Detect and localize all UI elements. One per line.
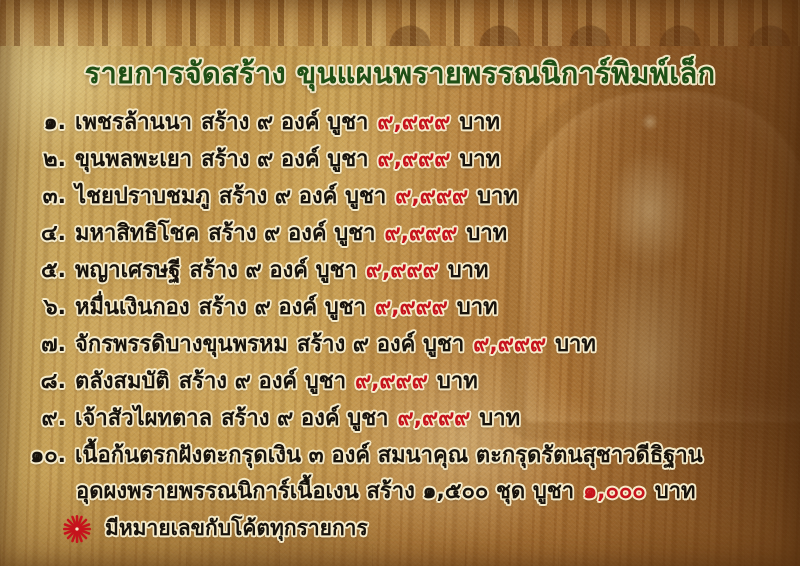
list-item: ๕. พญาเศรษฐี สร้าง ๙ องค์ บูชา ๙,๙๙๙ บาท	[24, 252, 776, 289]
list-item-number: ๕.	[24, 252, 66, 287]
list-item-price: ๙,๙๙๙	[385, 215, 458, 250]
list-item-name: ขุนพลพะเยา	[75, 141, 192, 176]
list-item-price: ๑,๐๐๐	[583, 473, 646, 508]
list-item-price: ๙,๙๙๙	[397, 400, 470, 435]
list-item-number: ๘.	[24, 363, 66, 398]
list-item-number: ๓.	[24, 178, 66, 213]
list-item-detail: สร้าง ๙ องค์ บูชา	[297, 326, 464, 361]
list-item-detail: เนื้อก้นตรกฝังตะกรุดเงิน ๓ องค์ สมนาคุณ …	[75, 437, 703, 472]
list-item-detail: สร้าง ๙ องค์ บูชา	[179, 363, 346, 398]
list-item-number: ๑.	[24, 104, 66, 139]
list-item-number: ๔.	[24, 215, 66, 250]
list-item: ๙. เจ้าสัวไผทตาล สร้าง ๙ องค์ บูชา ๙,๙๙๙…	[24, 400, 776, 437]
list-item-unit: บาท	[459, 104, 500, 139]
list-item-unit: บาท	[459, 141, 500, 176]
list-item-name: ตลังสมบัติ	[75, 363, 170, 398]
list-item-price: ๙,๙๙๙	[378, 141, 451, 176]
list-item: ๔. มหาสิทธิโชค สร้าง ๙ องค์ บูชา ๙,๙๙๙ บ…	[24, 215, 776, 252]
list-item-detail: สร้าง ๙ องค์ บูชา	[201, 104, 368, 139]
list-item-name: ไชยปราบชมภู	[75, 178, 210, 213]
list-item-detail: สร้าง ๙ องค์ บูชา	[208, 215, 375, 250]
list-item-price: ๙,๙๙๙	[375, 289, 448, 324]
poster-content: รายการจัดสร้าง ขุนแผนพรายพรรณนิการ์พิมพ์…	[0, 0, 800, 566]
list-item: ๗. จักรพรรดิบางขุนพรหม สร้าง ๙ องค์ บูชา…	[24, 326, 776, 363]
footnote-text: มีหมายเลขกับโค้ตทุกรายการ	[105, 512, 368, 545]
list-item-unit: บาท	[466, 215, 507, 250]
poster-canvas: รายการจัดสร้าง ขุนแผนพรายพรรณนิการ์พิมพ์…	[0, 0, 800, 566]
list-item-detail: สร้าง ๙ องค์ บูชา	[199, 289, 366, 324]
list-item-unit: บาท	[477, 178, 518, 213]
list-item-detail: สร้าง ๙ องค์ บูชา	[219, 178, 386, 213]
list-item-unit: บาท	[655, 473, 696, 508]
list-item-unit: บาท	[457, 289, 498, 324]
list-item: ๒. ขุนพลพะเยา สร้าง ๙ องค์ บูชา ๙,๙๙๙ บา…	[24, 141, 776, 178]
starburst-icon	[62, 514, 92, 544]
list-item-detail: สร้าง ๙ องค์ บูชา	[190, 252, 357, 287]
list-item-name: มหาสิทธิโชค	[75, 215, 199, 250]
list-item-unit: บาท	[437, 363, 478, 398]
list-item-ten-line-one: ๑๐. เนื้อก้นตรกฝังตะกรุดเงิน ๓ องค์ สมนา…	[24, 437, 776, 473]
list-item-price: ๙,๙๙๙	[366, 252, 439, 287]
list-item-price: ๙,๙๙๙	[395, 178, 468, 213]
list-item-name: จักรพรรดิบางขุนพรหม	[75, 326, 288, 361]
list-item-price: ๙,๙๙๙	[377, 104, 450, 139]
list-item-unit: บาท	[479, 400, 520, 435]
list-item-price: ๙,๙๙๙	[473, 326, 546, 361]
list-item-detail: สร้าง ๙ องค์ บูชา	[201, 141, 368, 176]
list-item-name: เจ้าสัวไผทตาล	[75, 400, 212, 435]
list-item: ๘. ตลังสมบัติ สร้าง ๙ องค์ บูชา ๙,๙๙๙ บา…	[24, 363, 776, 400]
list-item-name: เพชรล้านนา	[75, 104, 192, 139]
page-title: รายการจัดสร้าง ขุนแผนพรายพรรณนิการ์พิมพ์…	[0, 50, 800, 96]
list-item-number: ๗.	[24, 326, 66, 361]
list-item-price: ๙,๙๙๙	[355, 363, 428, 398]
list-item-ten-line-two: อุดผงพรายพรรณนิการ์เนื้อเงน สร้าง ๑,๕๐๐ …	[24, 473, 776, 509]
list-item-detail: อุดผงพรายพรรณนิการ์เนื้อเงน สร้าง ๑,๕๐๐ …	[76, 473, 574, 508]
list-item-name: หมื่นเงินกอง	[75, 289, 190, 324]
list-item-number: ๒.	[24, 141, 66, 176]
amulet-list: ๑. เพชรล้านนา สร้าง ๙ องค์ บูชา ๙,๙๙๙ บา…	[24, 104, 776, 509]
list-item-number: ๖.	[24, 289, 66, 324]
list-item: ๑. เพชรล้านนา สร้าง ๙ องค์ บูชา ๙,๙๙๙ บา…	[24, 104, 776, 141]
list-item-number: ๑๐.	[24, 437, 66, 472]
list-item: ๓. ไชยปราบชมภู สร้าง ๙ องค์ บูชา ๙,๙๙๙ บ…	[24, 178, 776, 215]
list-item-name: พญาเศรษฐี	[75, 252, 181, 287]
footnote: มีหมายเลขกับโค้ตทุกรายการ	[62, 512, 368, 545]
list-item-unit: บาท	[555, 326, 596, 361]
list-item-number: ๙.	[24, 400, 66, 435]
list-item-detail: สร้าง ๙ องค์ บูชา	[221, 400, 388, 435]
list-item: ๖. หมื่นเงินกอง สร้าง ๙ องค์ บูชา ๙,๙๙๙ …	[24, 289, 776, 326]
list-item-unit: บาท	[448, 252, 489, 287]
